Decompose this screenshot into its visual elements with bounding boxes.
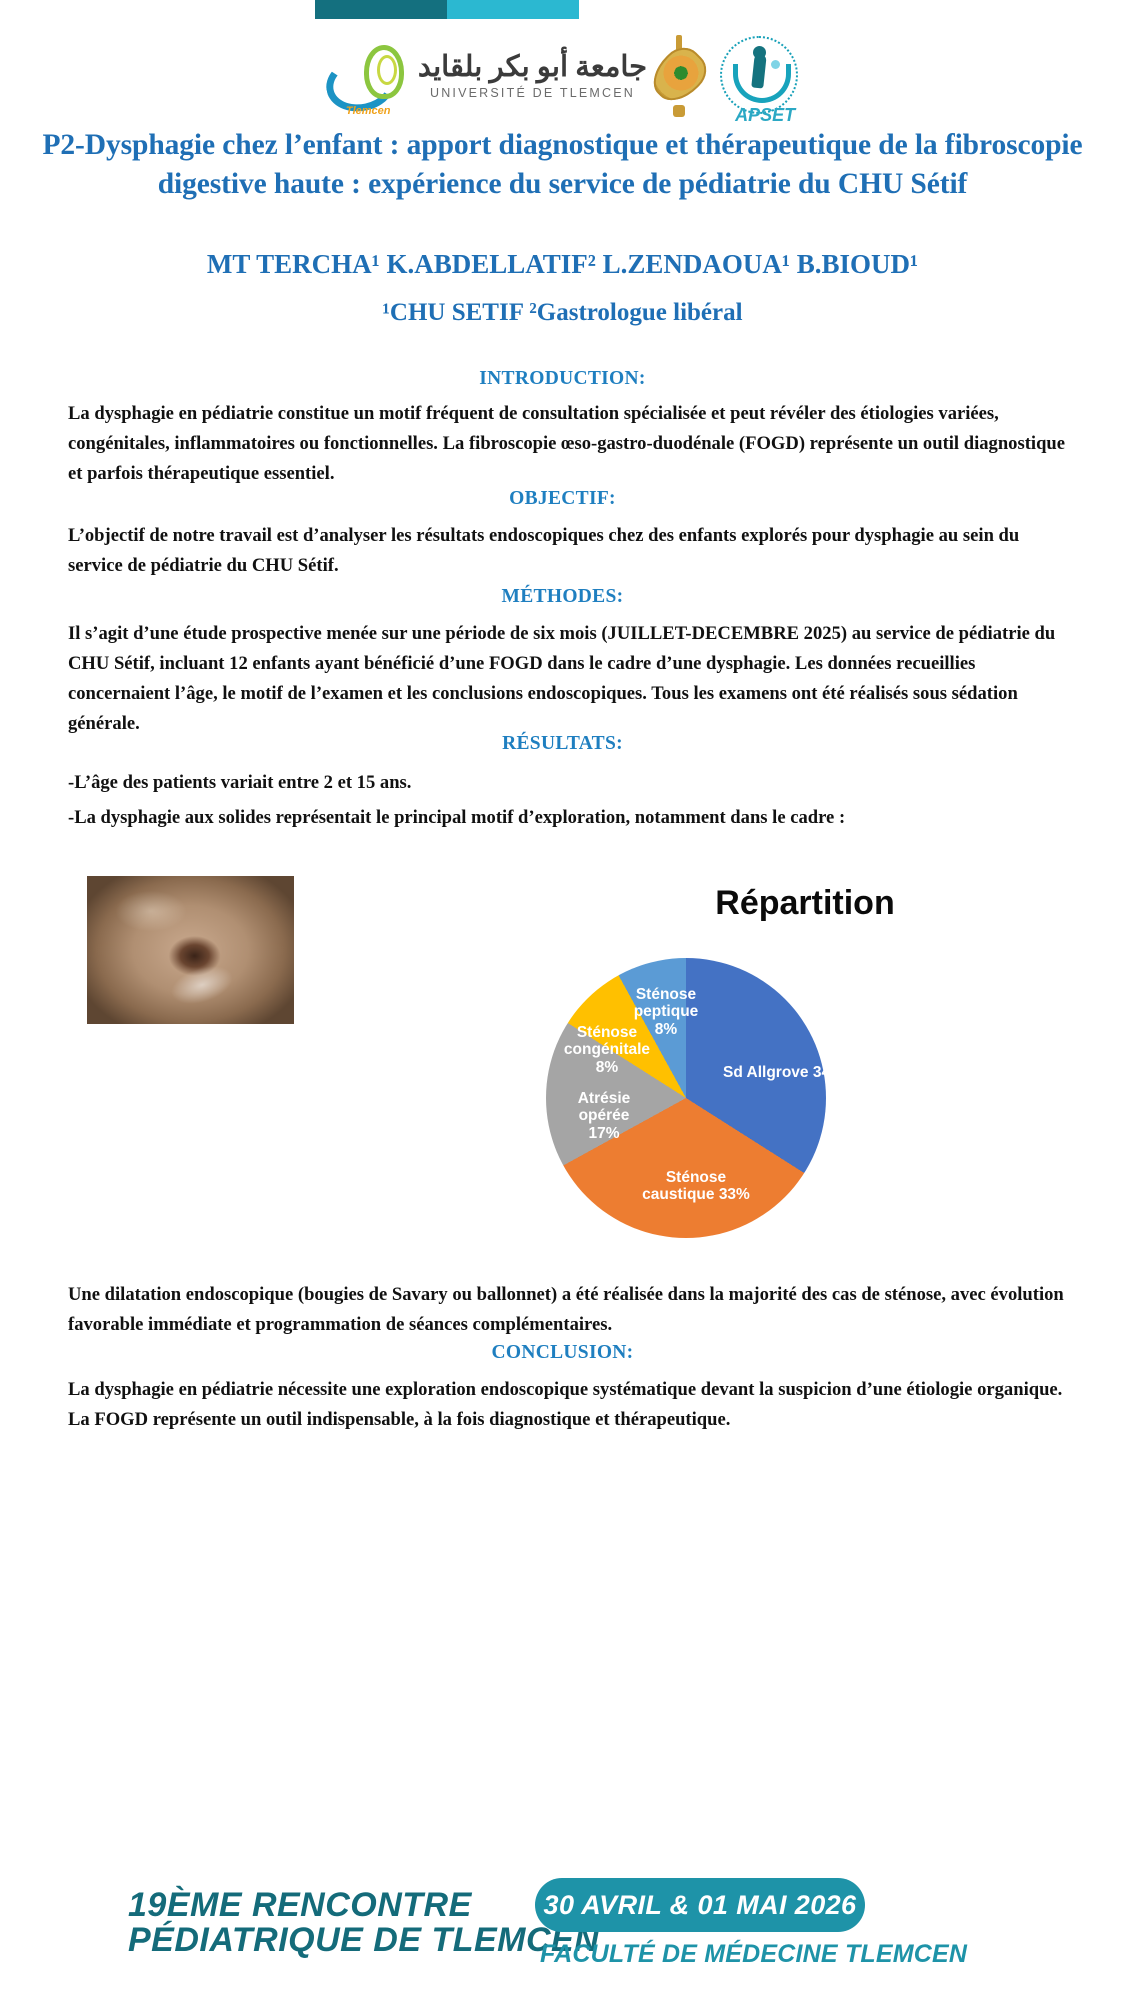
conference-footer-banner: 19ÈME RENCONTRE PÉDIATRIQUE DE TLEMCEN 3… <box>0 1870 1125 2000</box>
repartition-pie-chart: Répartition Sd Allgrove 34 Sténose caust… <box>545 884 1125 1254</box>
section-body-introduction: La dysphagie en pédiatrie constitue un m… <box>68 399 1068 489</box>
section-heading-introduction: INTRODUCTION: <box>0 368 1125 390</box>
apset-name-label: APSET <box>735 105 795 126</box>
university-name-french: UNIVERSITÉ DE TLEMCEN <box>430 86 635 100</box>
pie-label-atresie-operee: Atrésie opérée 17% <box>551 1090 657 1142</box>
university-name-arabic: جامعة أبو بكر بلقايد <box>418 53 647 82</box>
university-tlemcen-logo: جامعة أبو بكر بلقايد UNIVERSITÉ DE TLEMC… <box>418 53 647 100</box>
conference-venue: FACULTÉ DE MÉDECINE TLEMCEN <box>540 1940 967 1969</box>
ornament-foot <box>673 105 685 117</box>
resultats-dilatation-paragraph: Une dilatation endoscopique (bougies de … <box>68 1280 1068 1340</box>
section-body-objectif: L’objectif de notre travail est d’analys… <box>68 521 1068 581</box>
page-title: P2-Dysphagie chez l’enfant : apport diag… <box>28 126 1097 204</box>
conference-dates: 30 AVRIL & 01 MAI 2026 <box>544 1890 857 1921</box>
pie-label-stenose-caustique: Sténose caustique 33% <box>641 1169 751 1204</box>
conference-name-line2: PÉDIATRIQUE DE TLEMCEN <box>128 1923 599 1958</box>
section-heading-objectif: OBJECTIF: <box>0 488 1125 510</box>
section-body-methodes: Il s’agit d’une étude prospective menée … <box>68 619 1068 739</box>
section-body-conclusion: La dysphagie en pédiatrie nécessite une … <box>68 1375 1068 1435</box>
pie-label-sd-allgrove: Sd Allgrove 34 <box>723 1064 853 1081</box>
conference-name: 19ÈME RENCONTRE PÉDIATRIQUE DE TLEMCEN <box>128 1888 599 1959</box>
endoscopy-image-1-highlight <box>166 959 237 1011</box>
endoscopy-image-1-highlight-2 <box>116 891 186 931</box>
tlemcen-ornament-icon <box>653 33 705 119</box>
resultats-line-motif: -La dysphagie aux solides représentait l… <box>68 803 1068 833</box>
endoscopy-image-1 <box>87 876 294 1024</box>
endoscopy-image-2-highlight-2 <box>354 1172 410 1202</box>
conference-name-line1: 19ÈME RENCONTRE <box>128 1888 599 1923</box>
top-bar-light-segment <box>447 0 579 19</box>
chu-city-label: Tlemcen <box>346 105 391 117</box>
section-heading-resultats: RÉSULTATS: <box>0 733 1125 755</box>
chu-tlemcen-logo: Tlemcen <box>320 37 412 115</box>
pie-label-stenose-peptique: Sténose peptique 8% <box>623 986 709 1038</box>
apset-logo: APSET <box>711 30 805 122</box>
chu-leaf-inner-icon <box>377 55 397 85</box>
affiliation-line: ¹CHU SETIF ²Gastrologue libéral <box>28 299 1097 327</box>
ornament-body <box>644 40 715 111</box>
authors-line: MT TERCHA¹ K.ABDELLATIF² L.ZENDAOUA¹ B.B… <box>28 249 1097 280</box>
logo-row: Tlemcen جامعة أبو بكر بلقايد UNIVERSITÉ … <box>0 30 1125 122</box>
chart-title: Répartition <box>545 884 1065 923</box>
section-heading-conclusion: CONCLUSION: <box>0 1342 1125 1364</box>
conference-dates-pill: 30 AVRIL & 01 MAI 2026 <box>535 1878 865 1932</box>
endoscopy-image-2 <box>268 1079 463 1245</box>
top-color-bar <box>315 0 579 19</box>
section-heading-methodes: MÉTHODES: <box>0 586 1125 608</box>
top-bar-dark-segment <box>315 0 447 19</box>
resultats-line-age: -L’âge des patients variait entre 2 et 1… <box>68 768 1068 798</box>
endoscopy-image-2-highlight <box>322 1100 413 1164</box>
